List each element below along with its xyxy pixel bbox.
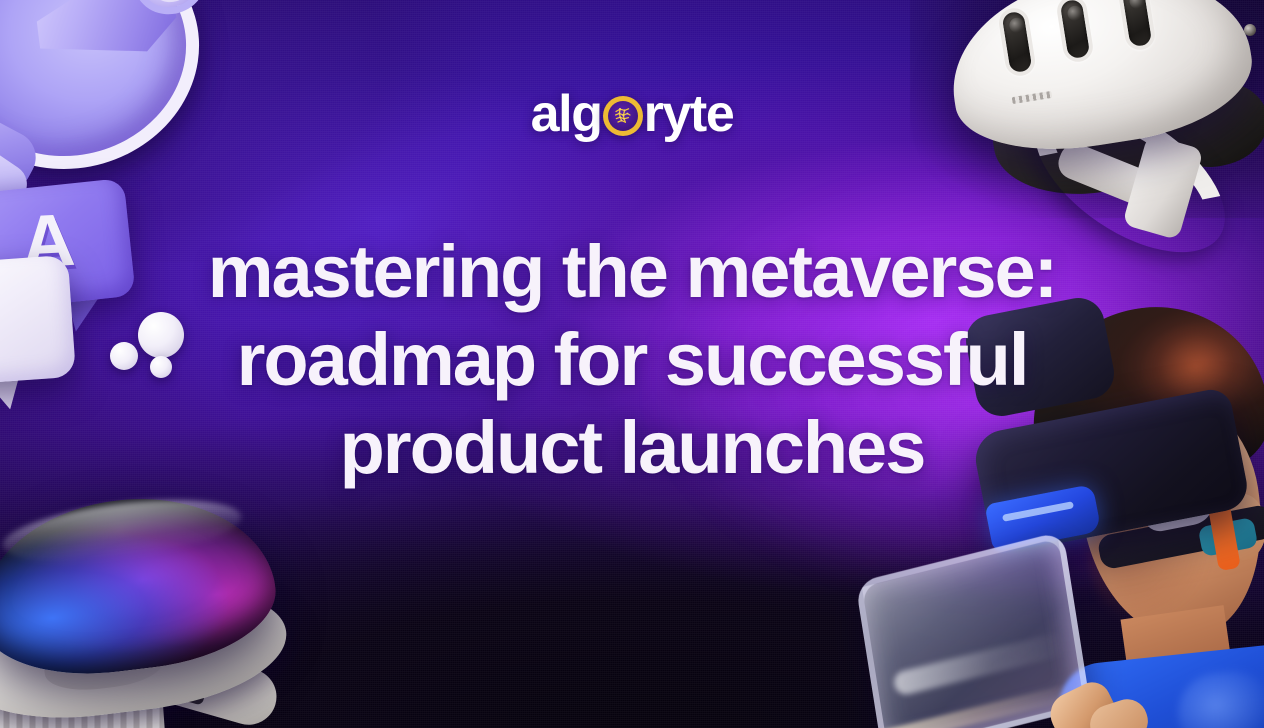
logo-text-after: ryte (644, 88, 734, 140)
question-bubble: Q (0, 255, 76, 387)
algoryte-coin-emblem-icon (603, 96, 643, 136)
headset-lens-1 (1008, 17, 1025, 34)
algoryte-logo[interactable]: alg (0, 88, 1264, 140)
headset-lens-3 (1128, 0, 1145, 10)
article-hero-banner: A Q (0, 0, 1264, 728)
vision-pro-goggles-photo (0, 490, 320, 728)
decorative-sphere-medium (110, 342, 138, 370)
qa-speech-bubbles-illustration: A Q (0, 176, 204, 426)
decorative-sphere-small (150, 356, 172, 378)
decorative-sphere-large (138, 312, 184, 358)
logo-text-before: alg (531, 88, 602, 140)
headset-lens-2 (1066, 5, 1083, 22)
